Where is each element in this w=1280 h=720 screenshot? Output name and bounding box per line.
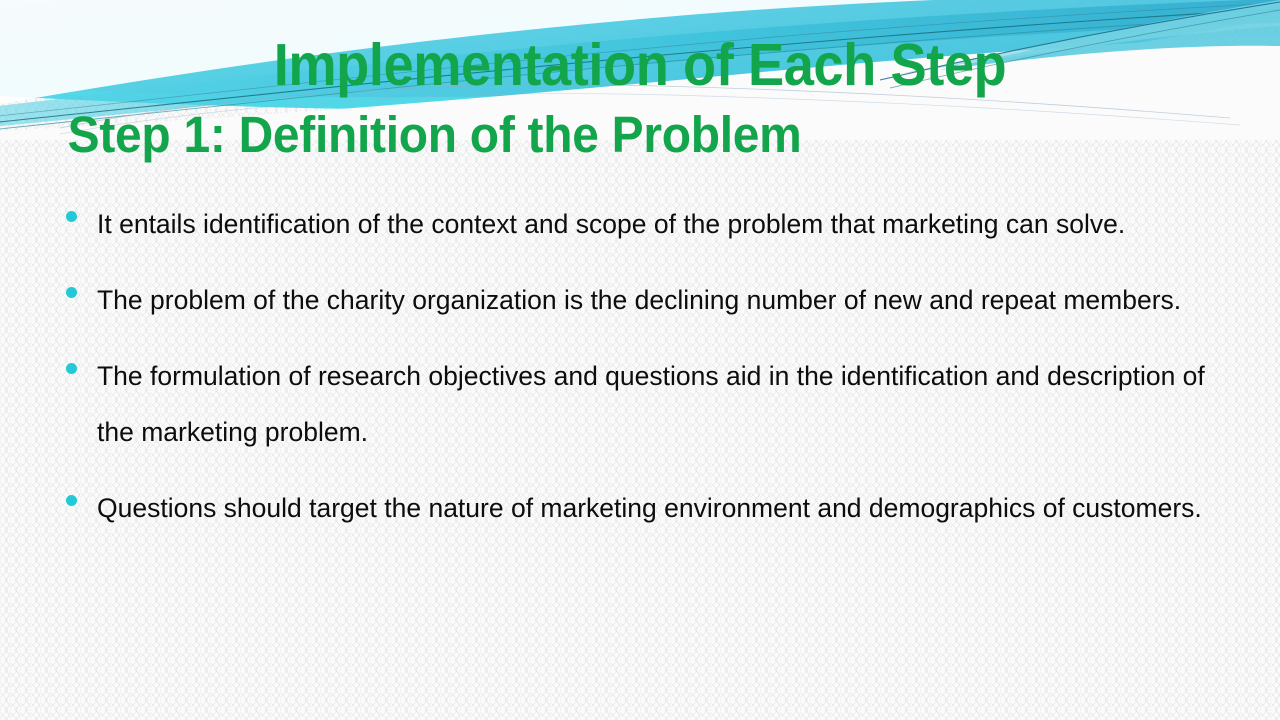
list-item-text: The formulation of research objectives a… [97, 348, 1226, 460]
bullet-list: It entails identification of the context… [66, 196, 1226, 556]
list-item-text: Questions should target the nature of ma… [97, 480, 1226, 536]
list-item-text: The problem of the charity organization … [97, 272, 1226, 328]
bullet-dot-icon [66, 287, 77, 298]
slide-subtitle: Step 1: Definition of the Problem [0, 95, 1203, 160]
page-title: Implementation of Each Step [51, 0, 1229, 95]
list-item: Questions should target the nature of ma… [66, 480, 1226, 536]
list-item-text: It entails identification of the context… [97, 196, 1226, 252]
bullet-dot-icon [66, 495, 77, 506]
list-item: The problem of the charity organization … [66, 272, 1226, 328]
title-block: Implementation of Each Step Step 1: Defi… [0, 0, 1280, 160]
list-item: The formulation of research objectives a… [66, 348, 1226, 460]
bullet-dot-icon [66, 363, 77, 374]
bullet-dot-icon [66, 211, 77, 222]
presentation-slide: Implementation of Each Step Step 1: Defi… [0, 0, 1280, 720]
list-item: It entails identification of the context… [66, 196, 1226, 252]
